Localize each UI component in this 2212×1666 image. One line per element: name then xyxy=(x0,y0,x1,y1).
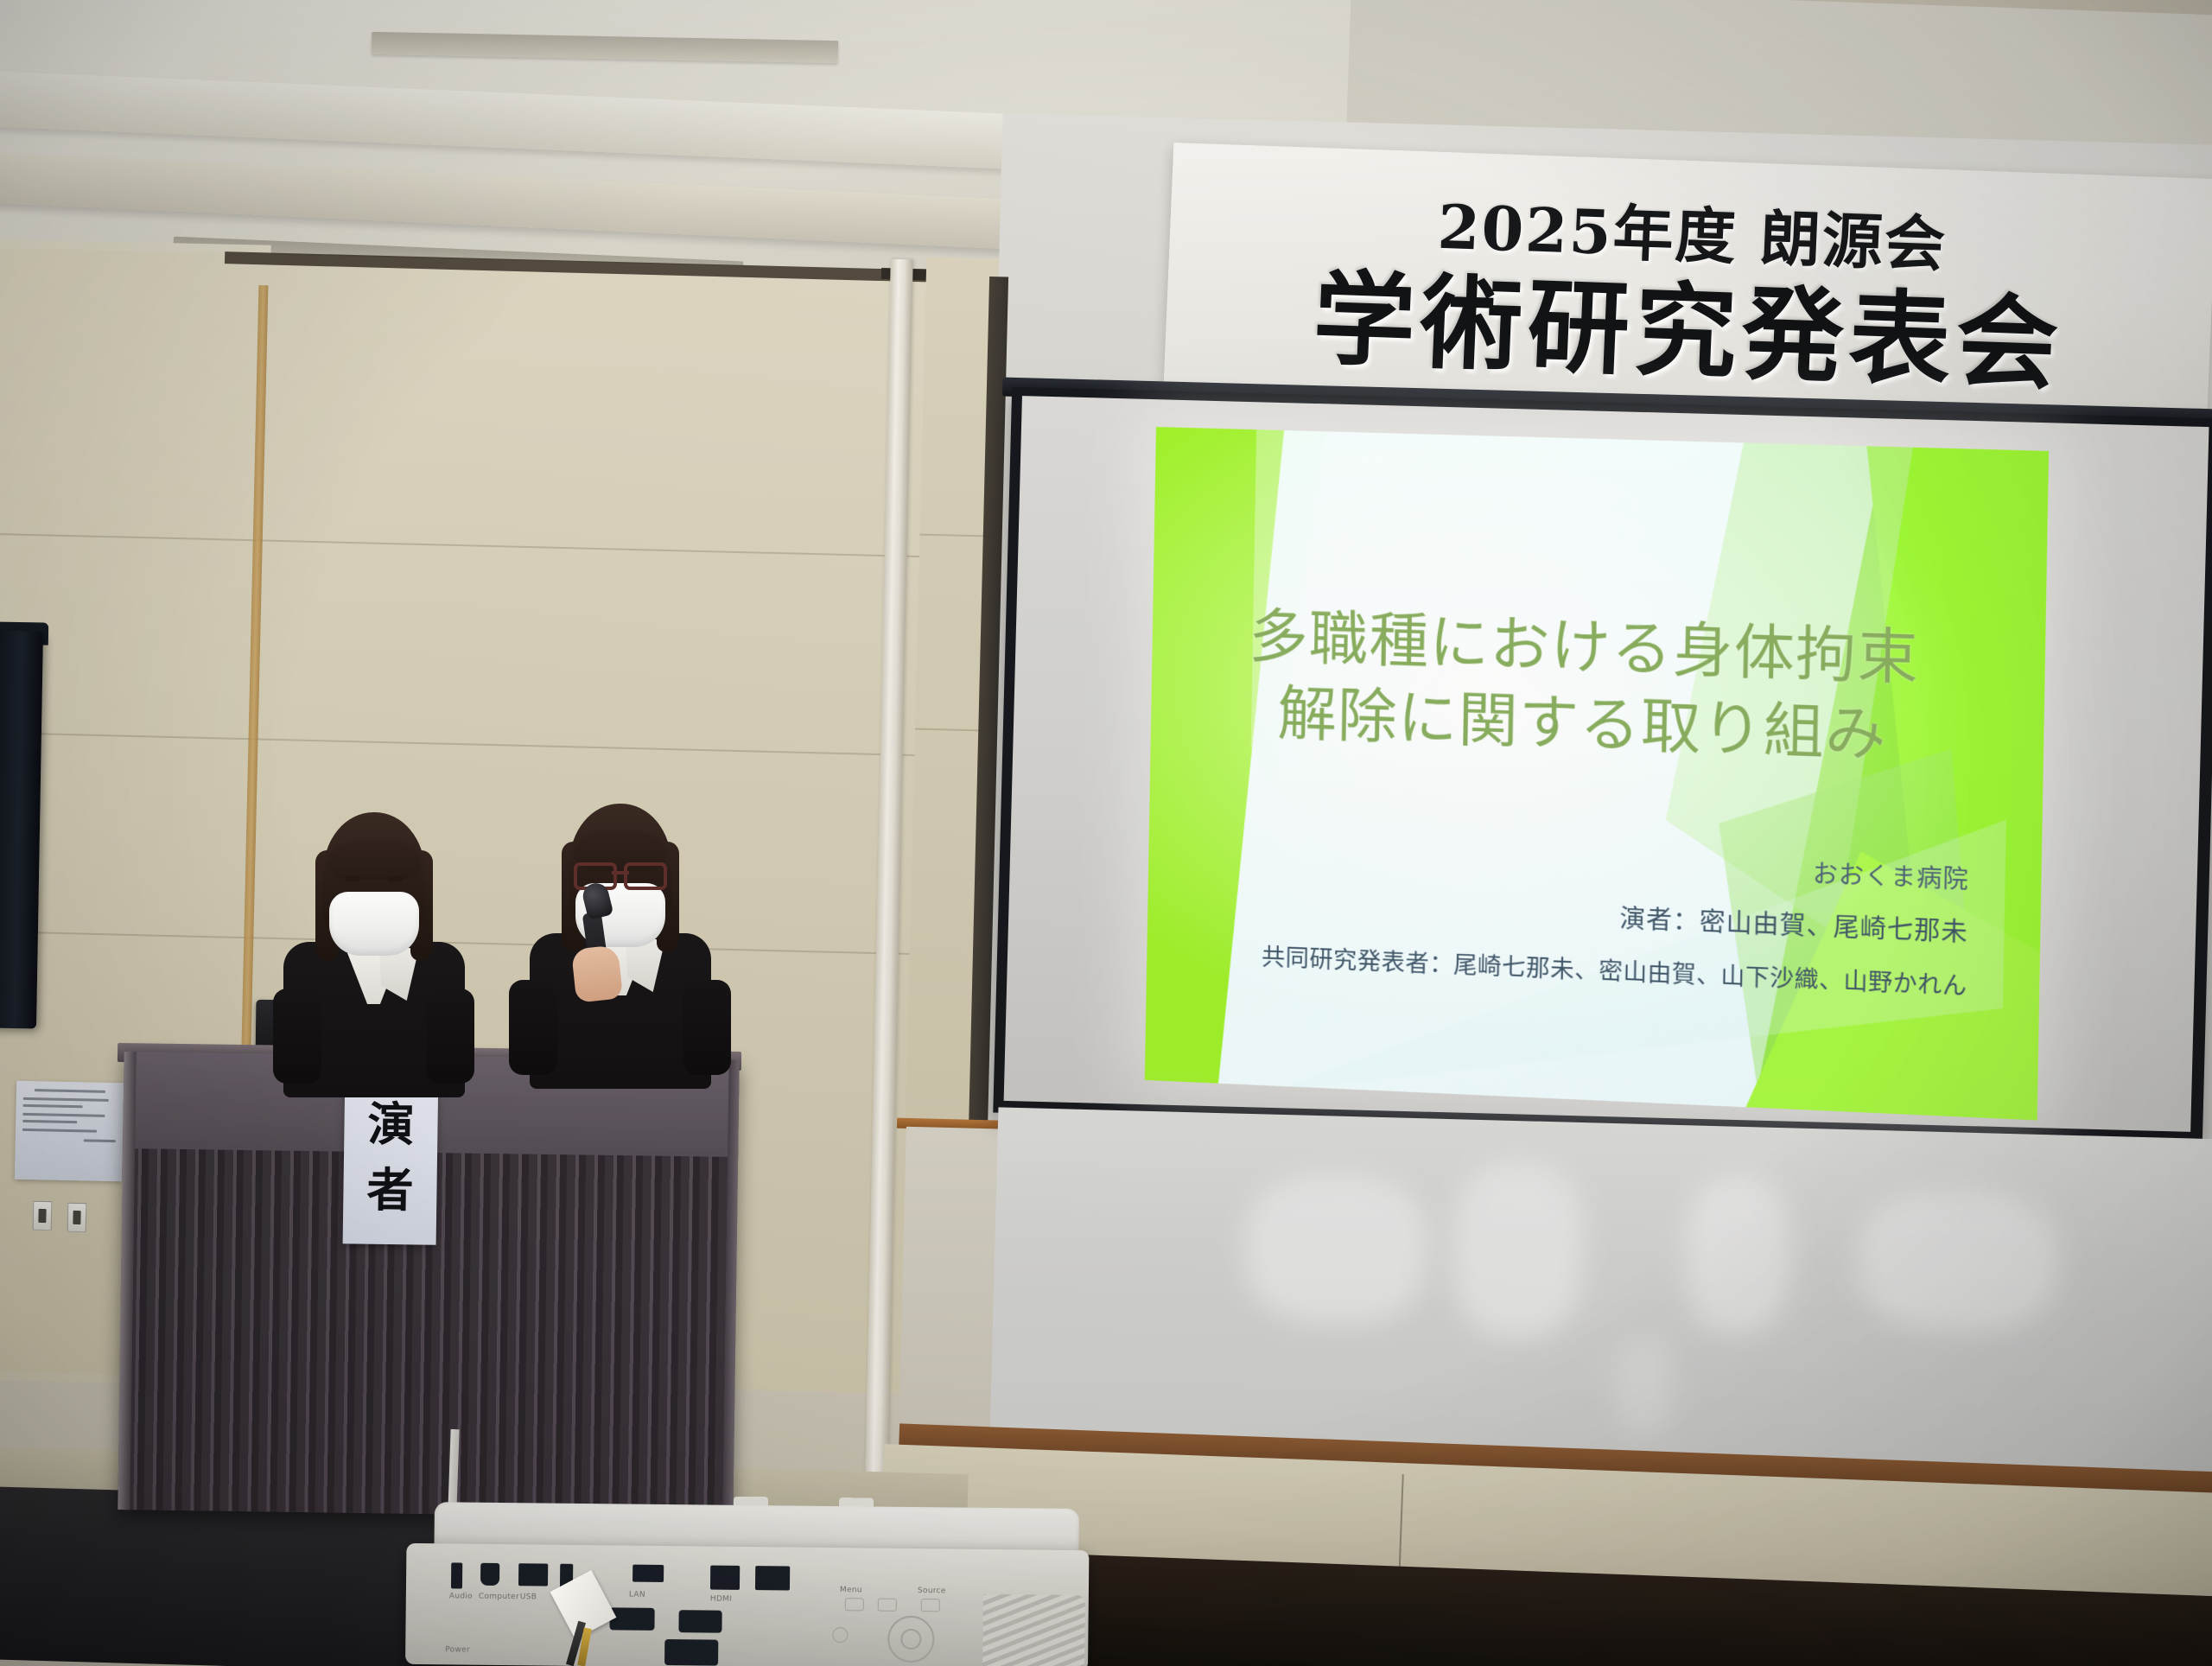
projector-body: Audio Computer USB Video LAN HDMI Power … xyxy=(405,1543,1089,1666)
projected-slide: 多職種における身体拘束 解除に関する取り組み おおくま病院 演者：密山由賀、尾崎… xyxy=(1145,427,2049,1120)
projector-label-lan: LAN xyxy=(629,1591,645,1599)
projector-port-audio-out[interactable] xyxy=(451,1562,462,1588)
presenter-left-eye-left xyxy=(346,876,360,881)
projector-port-power-inlet[interactable] xyxy=(664,1639,718,1666)
presenter-right-glasses xyxy=(572,862,669,885)
projector-port-hdmi-1[interactable] xyxy=(710,1566,740,1590)
projector-label-serial: Computer xyxy=(479,1593,519,1601)
presenter-left xyxy=(276,812,471,1071)
projector-label-hdmi: HDMI xyxy=(710,1595,732,1604)
slide-title: 多職種における身体拘束 解除に関する取り組み xyxy=(1198,598,1969,779)
presenter-left-eye-right xyxy=(388,876,403,881)
projector-vent-grille xyxy=(982,1594,1085,1666)
projector-port-usb[interactable] xyxy=(518,1563,548,1586)
presenter-left-arm-right xyxy=(426,989,474,1084)
projector-label-usb: USB xyxy=(520,1593,537,1601)
banner-title: 学術研究発表会 xyxy=(1311,267,2065,397)
podium-sign-char-bottom: 者 xyxy=(366,1167,414,1214)
presenter-left-bangs xyxy=(327,838,421,880)
presenter-right-arm-left xyxy=(509,980,557,1075)
projector-port-serial[interactable] xyxy=(480,1563,499,1586)
projector-port-video[interactable] xyxy=(609,1607,654,1631)
presenter-left-face-mask xyxy=(329,892,419,956)
projector-navigation-pad[interactable] xyxy=(887,1616,935,1663)
projector: Audio Computer USB Video LAN HDMI Power … xyxy=(405,1502,1090,1666)
projector-power-button[interactable] xyxy=(921,1599,940,1612)
projector-label-power: Power xyxy=(445,1645,470,1654)
wall-outlet-2 xyxy=(67,1203,87,1232)
presenter-right-arm-right xyxy=(683,980,731,1075)
projector-port-computer[interactable] xyxy=(632,1565,664,1582)
projector-menu-button[interactable] xyxy=(845,1598,864,1611)
projector-port-lan[interactable] xyxy=(678,1610,721,1633)
projector-label-menu: Menu xyxy=(840,1586,862,1594)
projector-source-button[interactable] xyxy=(878,1599,897,1612)
presenter-left-arm-left xyxy=(273,989,321,1084)
projector-label-source: Source xyxy=(918,1587,946,1595)
whiteboard-below-screen xyxy=(989,1107,2212,1485)
presenter-right xyxy=(514,804,726,1073)
presenter-right-hand xyxy=(571,944,623,1002)
conference-photo-scene: 2025年度 朗源会 学術研究発表会 多職種における身体拘束 解除に関する取り組… xyxy=(0,0,2212,1666)
wall-outlet-1 xyxy=(33,1201,53,1230)
wall-monitor xyxy=(0,630,43,1028)
projector-status-led xyxy=(832,1627,848,1643)
projector-label-audio: Audio xyxy=(449,1592,473,1600)
projector-port-hdmi-2[interactable] xyxy=(755,1566,790,1590)
wall-notice-poster xyxy=(15,1081,124,1182)
podium-sign-char-top: 演 xyxy=(367,1101,415,1148)
